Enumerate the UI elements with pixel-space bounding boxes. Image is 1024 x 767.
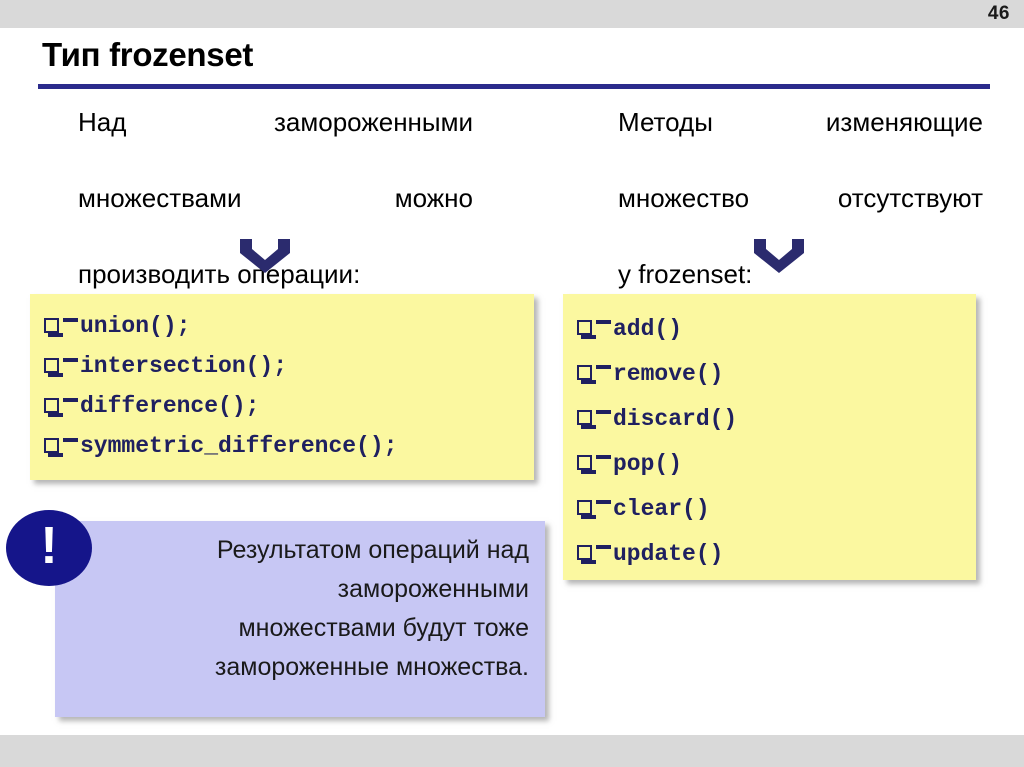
checkbox-bullet-icon [44,318,63,337]
intro-right-line-4: отсутствуют [838,183,983,213]
list-item: add() [577,306,962,351]
code-item-label: pop() [613,451,682,477]
code-item-label: intersection(); [80,353,287,379]
note-text: Результатом операций над замороженными м… [71,531,529,687]
code-item-label: update() [613,541,723,567]
list-item: remove() [577,351,962,396]
list-item: intersection(); [44,346,520,386]
list-item: union(); [44,306,520,346]
note-line-1: Результатом операций над [71,531,529,570]
list-item: difference(); [44,386,520,426]
intro-right-line-5: у frozenset: [618,259,752,289]
note-line-2: замороженными [71,570,529,609]
chevron-down-icon [752,237,806,277]
checkbox-bullet-icon [577,320,596,339]
code-item-label: clear() [613,496,710,522]
list-item: pop() [577,441,962,486]
exclamation-icon: ! [6,510,92,586]
list-item: discard() [577,396,962,441]
bottom-band [0,735,1024,767]
checkbox-bullet-icon [44,398,63,417]
code-item-label: remove() [613,361,723,387]
note-callout-box: Результатом операций над замороженными м… [55,521,545,717]
note-line-3: множествами будут тоже [71,609,529,648]
note-line-4: замороженные множества. [71,648,529,687]
code-item-label: add() [613,316,682,342]
checkbox-bullet-icon [44,358,63,377]
list-item: update() [577,531,962,576]
intro-left-line-3: множествами [78,183,242,213]
exclamation-mark: ! [6,510,92,586]
checkbox-bullet-icon [577,545,596,564]
intro-left-line-4: можно [395,183,473,213]
checkbox-bullet-icon [577,410,596,429]
intro-right-line-2: изменяющие [826,107,983,137]
code-item-label: discard() [613,406,737,432]
code-item-label: difference(); [80,393,259,419]
chevron-down-icon [238,237,292,277]
title-underline-rule [38,84,990,89]
checkbox-bullet-icon [577,365,596,384]
intro-right-line-3: множество [618,183,749,213]
checkbox-bullet-icon [577,500,596,519]
page-number: 46 [988,1,1010,27]
list-item: symmetric_difference(); [44,426,520,466]
checkbox-bullet-icon [44,438,63,457]
code-box-operations: union(); intersection(); difference(); s… [30,294,534,480]
intro-left-line-5: производить операции: [78,259,360,289]
top-band [0,0,1024,28]
code-item-label: symmetric_difference(); [80,433,397,459]
list-item: clear() [577,486,962,531]
slide-canvas: 46 Тип frozenset Над замороженными множе… [0,0,1024,767]
intro-left-line-2: замороженными [274,107,473,137]
checkbox-bullet-icon [577,455,596,474]
intro-right-line-1: Методы [618,107,713,137]
code-item-label: union(); [80,313,190,339]
page-title: Тип frozenset [42,36,253,74]
code-box-missing-methods: add() remove() discard() pop() clear() u… [563,294,976,580]
intro-left-line-1: Над [78,107,126,137]
